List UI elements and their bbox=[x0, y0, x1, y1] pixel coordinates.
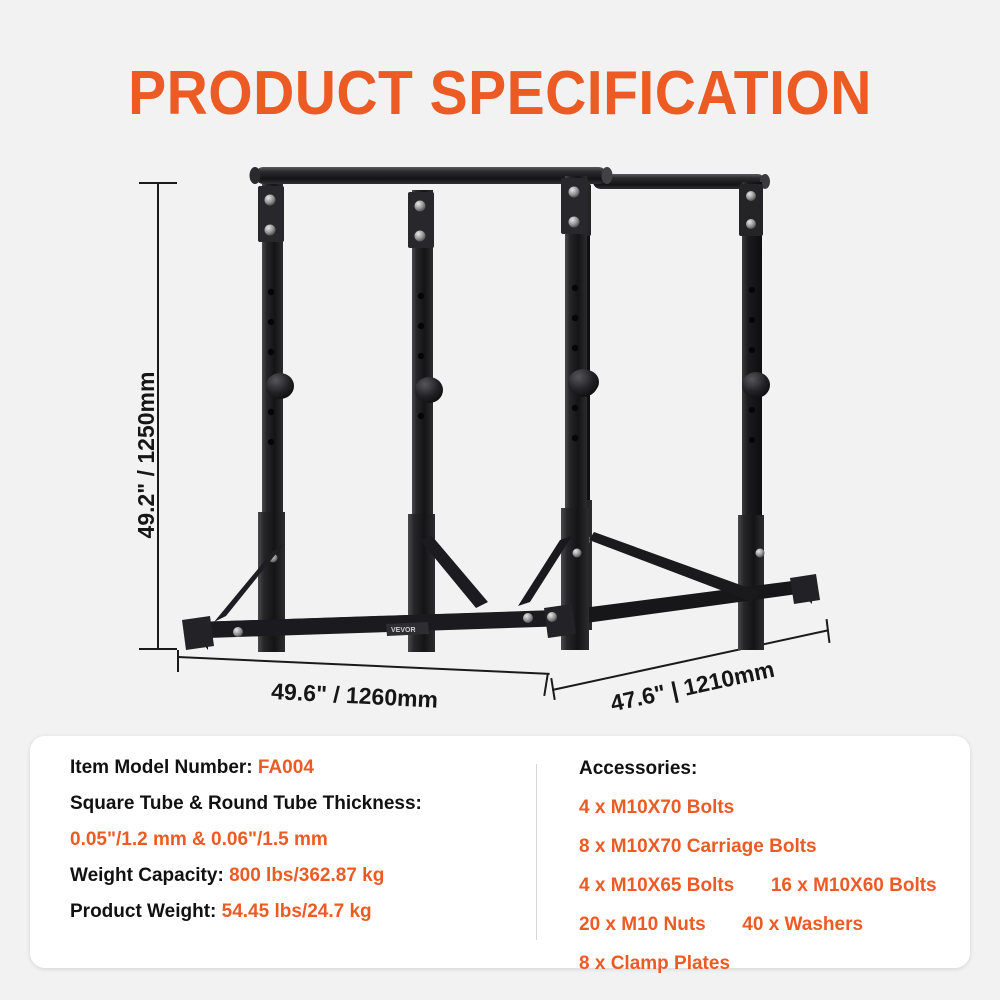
spec-weight-value: 54.45 lbs/24.7 kg bbox=[222, 901, 372, 922]
specification-card: Item Model Number: FA004 Square Tube & R… bbox=[30, 736, 970, 968]
spec-capacity-label: Weight Capacity: bbox=[70, 865, 224, 886]
spec-thickness-value-line: 0.05"/1.2 mm & 0.06"/1.5 mm bbox=[70, 830, 536, 849]
accessory-item-3: 4 x M10X65 Bolts bbox=[579, 875, 734, 896]
spec-capacity-value: 800 lbs/362.87 kg bbox=[229, 865, 384, 886]
spec-weight-label: Product Weight: bbox=[70, 901, 216, 922]
squat-rack-graphic: VEVOR bbox=[0, 140, 1000, 720]
spec-model-label: Item Model Number: bbox=[70, 757, 253, 778]
accessories-column: Accessories: 4 x M10X70 Bolts 8 x M10X70… bbox=[537, 736, 970, 968]
page-title: PRODUCT SPECIFICATION bbox=[40, 58, 960, 129]
svg-text:VEVOR: VEVOR bbox=[391, 627, 416, 634]
spec-capacity: Weight Capacity: 800 lbs/362.87 kg bbox=[70, 866, 536, 885]
spec-model-value: FA004 bbox=[258, 757, 314, 778]
product-specification-page: PRODUCT SPECIFICATION 49.2" / 1250mm 49.… bbox=[0, 0, 1000, 1000]
spec-thickness-label-line: Square Tube & Round Tube Thickness: bbox=[70, 794, 536, 813]
accessory-item-1: 4 x M10X70 Bolts bbox=[579, 797, 970, 819]
spec-model: Item Model Number: FA004 bbox=[70, 758, 536, 777]
product-illustration: 49.2" / 1250mm 49.6" / 1260mm 47.6" | 12… bbox=[0, 140, 1000, 720]
specs-column: Item Model Number: FA004 Square Tube & R… bbox=[30, 736, 536, 968]
accessory-row-4: 20 x M10 Nuts 40 x Washers bbox=[579, 914, 970, 936]
spec-thickness-label: Square Tube & Round Tube Thickness: bbox=[70, 793, 422, 814]
accessory-item-2: 8 x M10X70 Carriage Bolts bbox=[579, 836, 970, 858]
accessory-item-4: 16 x M10X60 Bolts bbox=[771, 875, 937, 896]
spec-thickness-value: 0.05"/1.2 mm & 0.06"/1.5 mm bbox=[70, 829, 328, 850]
spec-weight: Product Weight: 54.45 lbs/24.7 kg bbox=[70, 902, 536, 921]
accessory-item-7: 8 x Clamp Plates bbox=[579, 953, 970, 975]
accessories-heading: Accessories: bbox=[579, 758, 970, 780]
accessory-item-6: 40 x Washers bbox=[742, 914, 863, 935]
accessory-item-5: 20 x M10 Nuts bbox=[579, 914, 706, 935]
accessory-row-3: 4 x M10X65 Bolts 16 x M10X60 Bolts bbox=[579, 875, 970, 897]
